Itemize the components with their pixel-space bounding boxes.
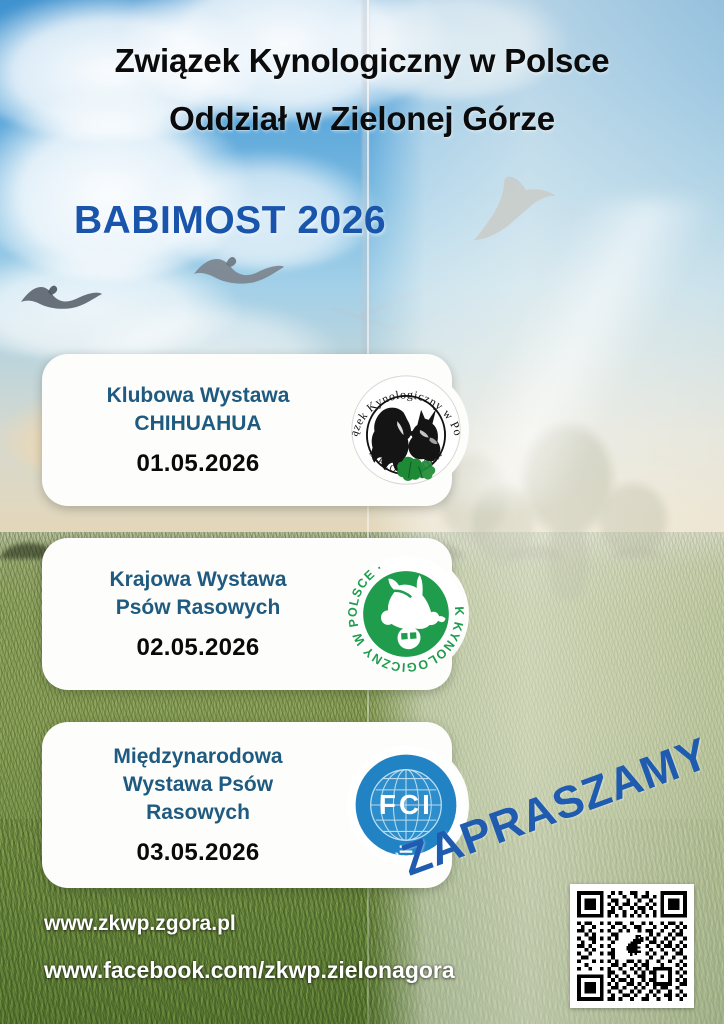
svg-text:FCI: FCI: [379, 789, 433, 820]
event-card-text: Klubowa Wystawa CHIHUAHUA 01.05.2026: [42, 372, 342, 487]
zkwp-zielona-gora-logo: Związek Kynologiczny w Polsce ZIELONA GÓ…: [342, 366, 470, 494]
event-title-line3: Rasowych: [58, 799, 338, 827]
event-date: 01.05.2026: [58, 450, 338, 478]
zkwp-green-logo: ZWIĄZEK KYNOLOGICZNY W POLSCE ·: [342, 550, 470, 678]
event-title-line1: Klubowa Wystawa: [58, 382, 338, 410]
event-title-line1: Międzynarodowa: [58, 743, 338, 771]
event-card-chihuahua[interactable]: Klubowa Wystawa CHIHUAHUA 01.05.2026 Zwi…: [42, 354, 452, 506]
organization-name-line1: Związek Kynologiczny w Polsce: [0, 42, 724, 80]
event-location-year: BABIMOST 2026: [74, 199, 386, 243]
event-date: 03.05.2026: [58, 839, 338, 867]
event-card-miedzynarodowa[interactable]: Międzynarodowa Wystawa Psów Rasowych 03.…: [42, 722, 452, 888]
event-title-line2: Wystawa Psów: [58, 771, 338, 799]
organization-name-line2: Oddział w Zielonej Górze: [0, 100, 724, 138]
facebook-link[interactable]: www.facebook.com/zkwp.zielonagora: [44, 957, 455, 984]
event-title-line2: Psów Rasowych: [58, 594, 338, 622]
event-card-text: Krajowa Wystawa Psów Rasowych 02.05.2026: [42, 556, 342, 671]
event-title-line2: CHIHUAHUA: [58, 410, 338, 438]
seagull-icon: [190, 252, 286, 296]
seagull-icon: [18, 278, 104, 318]
website-link[interactable]: www.zkwp.zgora.pl: [44, 912, 236, 936]
seagull-icon: [470, 172, 558, 258]
event-title-line1: Krajowa Wystawa: [58, 566, 338, 594]
event-date: 02.05.2026: [58, 634, 338, 662]
event-card-text: Międzynarodowa Wystawa Psów Rasowych 03.…: [42, 733, 342, 876]
pine-tree: [438, 400, 688, 600]
qr-code[interactable]: [570, 884, 694, 1008]
event-card-krajowa[interactable]: Krajowa Wystawa Psów Rasowych 02.05.2026…: [42, 538, 452, 690]
poster: Związek Kynologiczny w Polsce Oddział w …: [0, 0, 724, 1024]
